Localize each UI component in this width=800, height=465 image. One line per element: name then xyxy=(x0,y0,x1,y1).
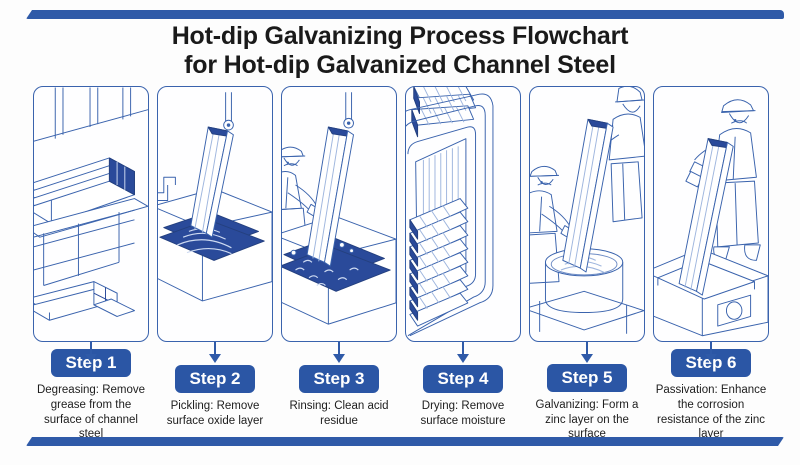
step-caption-5: Galvanizing: Form a zinc layer on the su… xyxy=(529,398,645,442)
step-caption-3: Rinsing: Clean acid residue xyxy=(281,399,397,428)
bottom-accent-bar xyxy=(26,437,784,446)
illustration-panels xyxy=(33,86,769,342)
step-6: Step 6 Passivation: Enhance the corrosio… xyxy=(653,342,769,442)
step-badge-2[interactable]: Step 2 xyxy=(175,365,254,393)
rinsing-worker-tank-icon xyxy=(282,87,396,341)
channel-steel-rack-icon xyxy=(34,87,148,341)
step-badge-5[interactable]: Step 5 xyxy=(547,364,626,392)
step-caption-6: Passivation: Enhance the corrosion resis… xyxy=(653,383,769,442)
panel-step-5[interactable] xyxy=(529,86,645,342)
arrow-down-icon xyxy=(580,342,594,363)
step-2: Step 2 Pickling: Remove surface oxide la… xyxy=(157,342,273,442)
panel-step-4[interactable] xyxy=(405,86,521,342)
top-accent-bar xyxy=(26,10,784,19)
panel-step-3[interactable] xyxy=(281,86,397,342)
page-title: Hot-dip Galvanizing Process Flowchart fo… xyxy=(0,22,800,80)
step-badge-4[interactable]: Step 4 xyxy=(423,365,502,393)
step-3: Step 3 Rinsing: Clean acid residue xyxy=(281,342,397,442)
arrow-down-icon xyxy=(84,342,98,348)
arrow-down-icon xyxy=(332,342,346,364)
steps-row: Step 1 Degreasing: Remove grease from th… xyxy=(33,342,769,442)
title-line-2: for Hot-dip Galvanized Channel Steel xyxy=(0,51,800,80)
step-5: Step 5 Galvanizing: Form a zinc layer on… xyxy=(529,342,645,442)
zinc-kettle-icon xyxy=(530,87,644,341)
step-caption-2: Pickling: Remove surface oxide layer xyxy=(157,399,273,428)
acid-dip-tank-icon xyxy=(158,87,272,341)
panel-step-2[interactable] xyxy=(157,86,273,342)
panel-step-6[interactable] xyxy=(653,86,769,342)
passivation-tank-icon xyxy=(654,87,768,341)
step-caption-1: Degreasing: Remove grease from the surfa… xyxy=(33,383,149,442)
arrow-down-icon xyxy=(704,342,718,348)
poster-frame: Hot-dip Galvanizing Process Flowchart fo… xyxy=(0,0,800,465)
panel-step-1[interactable] xyxy=(33,86,149,342)
title-line-1: Hot-dip Galvanizing Process Flowchart xyxy=(172,22,629,50)
step-4: Step 4 Drying: Remove surface moisture xyxy=(405,342,521,442)
step-caption-4: Drying: Remove surface moisture xyxy=(405,399,521,428)
arrow-down-icon xyxy=(456,342,470,364)
step-badge-3[interactable]: Step 3 xyxy=(299,365,378,393)
step-1: Step 1 Degreasing: Remove grease from th… xyxy=(33,342,149,442)
arrow-down-icon xyxy=(208,342,222,364)
drying-oven-icon xyxy=(406,87,520,341)
